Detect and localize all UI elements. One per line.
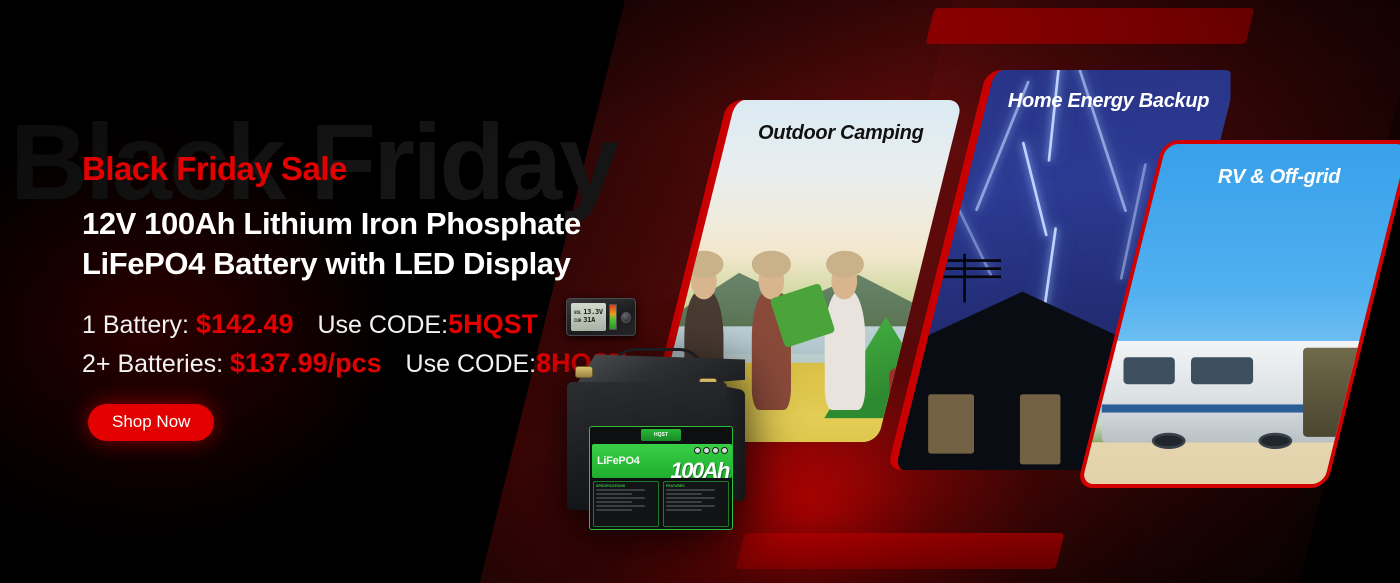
pricing-amount-1: $142.49 <box>196 309 294 339</box>
pricing-amount-2: $137.99/pcs <box>230 348 382 378</box>
scene-card-label-home-energy: Home Energy Backup <box>987 90 1230 113</box>
led-current-value: 31A <box>583 317 595 325</box>
battery-terminal-negative <box>575 366 593 378</box>
led-display-module: VOL 13.3V CUR 31A <box>566 298 636 336</box>
decorative-red-bar-top <box>926 8 1255 44</box>
led-screen: VOL 13.3V CUR 31A <box>571 303 606 331</box>
product-title: 12V 100Ah Lithium Iron Phosphate LiFePO4… <box>82 204 602 283</box>
pricing-code-1: 5HQST <box>448 309 538 339</box>
shop-now-button[interactable]: Shop Now <box>88 404 214 441</box>
battery-certification-icons <box>694 447 728 454</box>
led-voltage-label: VOL <box>574 311 581 315</box>
pricing-code-prefix-1: Use CODE: <box>317 311 448 339</box>
product-title-line2: LiFePO4 Battery with LED Display <box>82 244 602 284</box>
scene-card-label-camping: Outdoor Camping <box>727 122 954 145</box>
pricing-qty-label-2: 2+ Batteries: <box>82 350 223 378</box>
battery-brand-logo: HQST <box>641 429 681 441</box>
battery-spec-heading-left: SPECIFICATIONS <box>596 484 656 488</box>
led-knob-icon <box>621 312 631 323</box>
scene-card-label-rv: RV & Off-grid <box>1158 166 1400 189</box>
decorative-red-bar-bottom <box>736 533 1065 569</box>
battery-product-image: HQST LiFePO4 100Ah SPECIFICATIONS <box>553 352 745 510</box>
pricing-row: 1 Battery: $142.49 Use CODE:5HQST <box>82 305 602 344</box>
sale-kicker: Black Friday Sale <box>82 150 602 188</box>
led-current-label: CUR <box>574 319 581 323</box>
pricing-code-prefix-2: Use CODE: <box>406 350 537 378</box>
led-capacity-bars-icon <box>609 304 618 330</box>
battery-spec-blocks: SPECIFICATIONS FEATURES <box>593 481 729 527</box>
pricing-row: 2+ Batteries: $137.99/pcs Use CODE:8HQST <box>82 344 602 383</box>
battery-spec-heading-right: FEATURES <box>666 484 726 488</box>
black-friday-banner: Black Friday Outdoor Camping <box>0 0 1400 583</box>
promo-text-column: Black Friday Sale 12V 100Ah Lithium Iron… <box>82 150 602 441</box>
pricing-block: 1 Battery: $142.49 Use CODE:5HQST 2+ Bat… <box>82 305 602 382</box>
battery-chemistry-text: LiFePO4 <box>597 455 640 467</box>
battery-label: HQST LiFePO4 100Ah SPECIFICATIONS <box>589 426 733 530</box>
product-title-line1: 12V 100Ah Lithium Iron Phosphate <box>82 204 602 244</box>
pricing-qty-label-1: 1 Battery: <box>82 311 189 339</box>
battery-front-face: HQST LiFePO4 100Ah SPECIFICATIONS <box>567 382 727 510</box>
